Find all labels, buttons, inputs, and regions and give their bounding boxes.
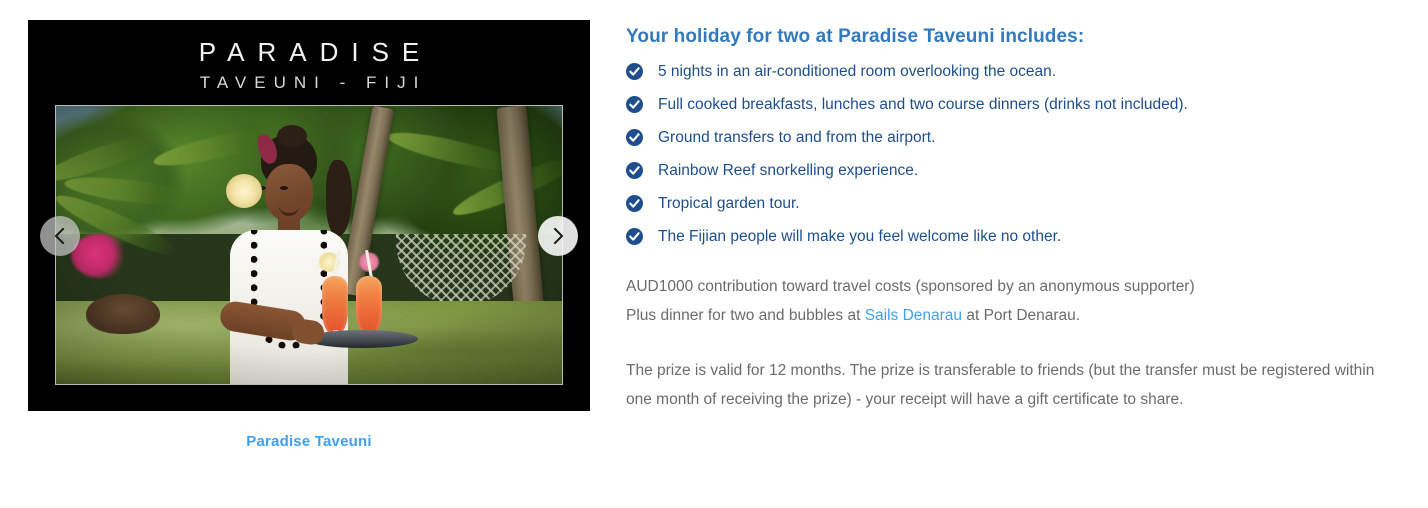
sails-denarau-link[interactable]: Sails Denarau: [865, 307, 962, 324]
chevron-right-icon: [550, 226, 566, 246]
cocktail-glass: [322, 276, 348, 334]
list-item-label: Tropical garden tour.: [658, 195, 800, 212]
check-circle-icon: [626, 162, 643, 179]
eye-right: [280, 186, 288, 190]
list-item: 5 nights in an air-conditioned room over…: [626, 62, 1401, 82]
check-circle-icon: [626, 129, 643, 146]
list-item: Tropical garden tour.: [626, 194, 1401, 214]
list-item: The Fijian people will make you feel wel…: [626, 227, 1401, 247]
chevron-left-icon: [52, 226, 68, 246]
image-carousel[interactable]: PARADISE TAVEUNI - FIJI: [28, 20, 590, 411]
carousel-caption[interactable]: Paradise Taveuni: [28, 433, 590, 450]
check-circle-icon: [626, 228, 643, 245]
carousel-next-button[interactable]: [538, 216, 578, 256]
garden-bush: [86, 294, 160, 334]
check-circle-icon: [626, 96, 643, 113]
list-item: Rainbow Reef snorkelling experience.: [626, 161, 1401, 181]
list-item-label: Ground transfers to and from the airport…: [658, 129, 935, 146]
list-item-label: 5 nights in an air-conditioned room over…: [658, 63, 1056, 80]
carousel-photo-frame: [55, 105, 563, 385]
hair-flower: [226, 174, 262, 208]
cocktail-glass: [356, 276, 382, 334]
check-circle-icon: [626, 195, 643, 212]
hair-bun: [277, 125, 307, 147]
brand-location: TAVEUNI - FIJI: [28, 73, 590, 93]
list-item-label: Full cooked breakfasts, lunches and two …: [658, 96, 1188, 113]
dinner-offer-suffix: at Port Denarau.: [962, 307, 1080, 324]
dinner-offer-text: Plus dinner for two and bubbles at Sails…: [626, 301, 1401, 330]
prize-details-page: PARADISE TAVEUNI - FIJI: [0, 0, 1428, 508]
page-title: Your holiday for two at Paradise Taveuni…: [626, 26, 1401, 48]
travel-contribution-text: AUD1000 contribution toward travel costs…: [626, 272, 1401, 301]
resort-photo: [56, 106, 562, 384]
prize-validity-text: The prize is valid for 12 months. The pr…: [626, 356, 1401, 414]
brand-name: PARADISE: [28, 37, 590, 67]
hair-strands: [326, 160, 352, 236]
carousel-prev-button[interactable]: [40, 216, 80, 256]
dinner-offer-prefix: Plus dinner for two and bubbles at: [626, 307, 865, 324]
resort-brand-overlay: PARADISE TAVEUNI - FIJI: [28, 20, 590, 93]
media-column: PARADISE TAVEUNI - FIJI: [28, 20, 590, 450]
benefits-list: 5 nights in an air-conditioned room over…: [626, 62, 1401, 247]
pink-flowers: [71, 234, 129, 278]
resort-host-person: [214, 134, 364, 384]
check-circle-icon: [626, 63, 643, 80]
list-item: Ground transfers to and from the airport…: [626, 128, 1401, 148]
list-item-label: The Fijian people will make you feel wel…: [658, 228, 1061, 245]
list-item-label: Rainbow Reef snorkelling experience.: [658, 162, 918, 179]
content-column: Your holiday for two at Paradise Taveuni…: [626, 26, 1401, 414]
list-item: Full cooked breakfasts, lunches and two …: [626, 95, 1401, 115]
